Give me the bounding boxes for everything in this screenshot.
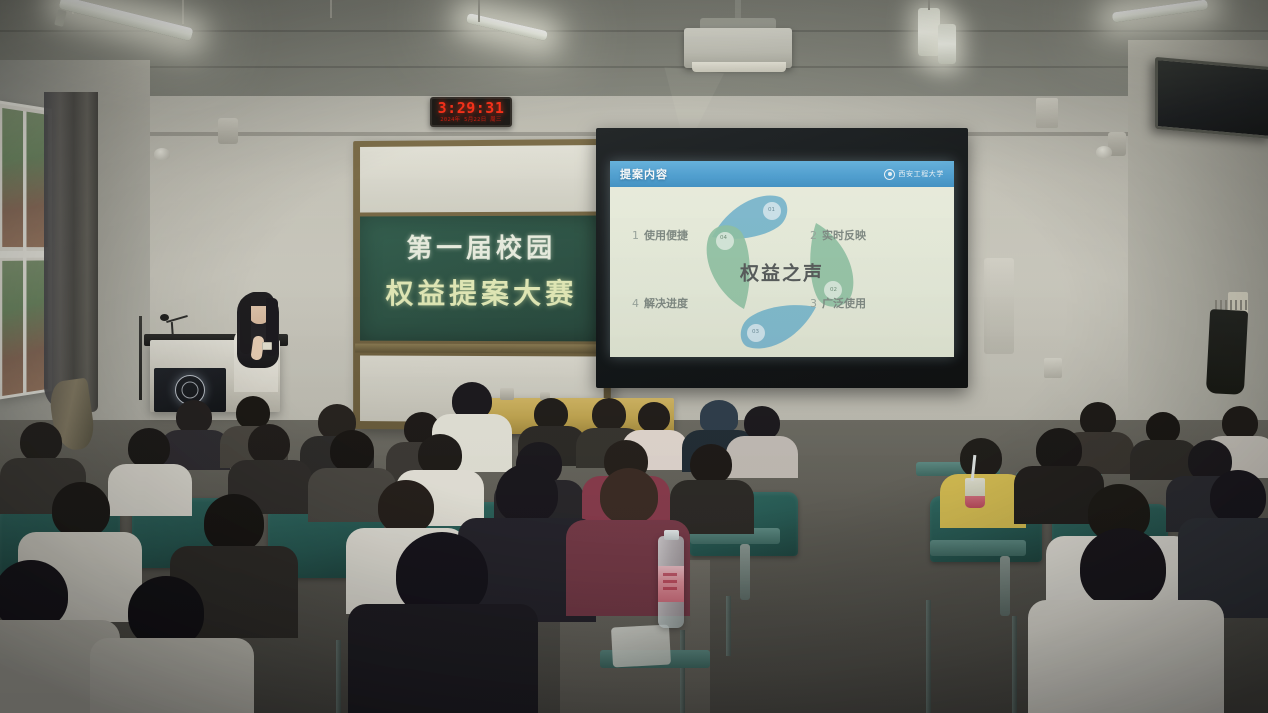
chalkboard-line-1: 第一届校园	[360, 228, 604, 266]
projection-screen: 提案内容 西安工程大学 01 02	[596, 128, 968, 388]
slide-item-3: 3广泛使用	[810, 295, 866, 311]
wall-mounted-monitor	[1155, 57, 1268, 139]
whiteboard-upper	[360, 145, 604, 213]
slide-title: 提案内容	[620, 166, 668, 182]
logo-mark-icon	[884, 169, 895, 180]
light-wire	[928, 0, 930, 10]
seat-arm	[1000, 556, 1010, 616]
wall-speaker	[218, 118, 238, 144]
plastic-bag	[611, 625, 671, 668]
desk-item	[500, 388, 514, 400]
chalkboard-green-panel: 第一届校园 权益提案大赛	[360, 216, 604, 342]
seat-leg	[926, 600, 931, 713]
ceiling	[0, 0, 1268, 104]
comma-number-02: 02	[830, 287, 837, 293]
comma-number-04: 04	[720, 235, 727, 241]
cup-liquid	[965, 496, 985, 508]
pendant-light	[938, 24, 956, 64]
university-logo: 西安工程大学	[884, 169, 944, 180]
wall-outlet	[1044, 358, 1062, 378]
window-curtain	[44, 92, 98, 412]
clock-date: 2024年 5月22日 周三	[440, 118, 502, 124]
slide-item-2-label: 实时反映	[822, 229, 866, 242]
seat-leg	[726, 596, 731, 656]
wall-hook-icon	[1215, 300, 1249, 310]
bottle-cap	[664, 530, 679, 540]
desk-tablet	[930, 540, 1026, 556]
presenter-hair-left	[240, 298, 251, 354]
digital-wall-clock: 3:29:31 2024年 5月22日 周三	[430, 97, 512, 127]
slide-item-2-number: 2	[810, 229, 817, 242]
slide-item-1-number: 1	[632, 229, 639, 242]
microphone-stand	[139, 316, 142, 400]
light-wire	[478, 0, 480, 22]
chalkboard-line-2: 权益提案大赛	[360, 272, 604, 312]
seat-leg	[680, 630, 685, 713]
slide-header: 提案内容 西安工程大学	[610, 161, 954, 187]
slide-item-2: 2实时反映	[810, 227, 866, 243]
slide-item-3-number: 3	[810, 297, 817, 310]
slide-item-1: 1使用便捷	[632, 227, 688, 243]
seat-leg	[336, 640, 341, 713]
slide-item-1-label: 使用便捷	[644, 229, 688, 242]
clock-time: 3:29:31	[438, 101, 505, 116]
presentation-slide: 提案内容 西安工程大学 01 02	[610, 161, 954, 357]
motion-sensor-icon	[154, 148, 170, 160]
light-wire	[182, 0, 184, 24]
chalk-tray	[355, 344, 609, 354]
logo-text: 西安工程大学	[898, 169, 944, 179]
comma-number-03: 03	[752, 329, 759, 335]
wall-vent	[1036, 98, 1058, 128]
hanging-bag	[1206, 309, 1248, 395]
wall-cabinet	[984, 258, 1014, 354]
comma-number-01: 01	[768, 207, 775, 213]
presenter-badge	[262, 342, 272, 350]
slide-item-4-number: 4	[632, 297, 639, 310]
pendant-light	[918, 8, 940, 56]
slide-item-3-label: 广泛使用	[822, 297, 866, 310]
slide-item-4-label: 解决进度	[644, 297, 688, 310]
slide-body: 01 02 03 04 权益之声 1使用便捷	[610, 187, 954, 357]
ceiling-seam	[0, 66, 1268, 68]
slide-item-4: 4解决进度	[632, 295, 688, 311]
window-mullion	[23, 111, 26, 393]
light-wire	[330, 0, 332, 18]
seat-arm	[740, 544, 750, 600]
slide-center-label: 权益之声	[740, 259, 824, 286]
seat-leg	[1012, 616, 1017, 713]
motion-sensor-icon	[1096, 146, 1112, 158]
bottle-label	[658, 566, 684, 602]
lecture-hall-scene: 3:29:31 2024年 5月22日 周三 第一届校园 权益提案大赛 提案内容…	[0, 0, 1268, 713]
